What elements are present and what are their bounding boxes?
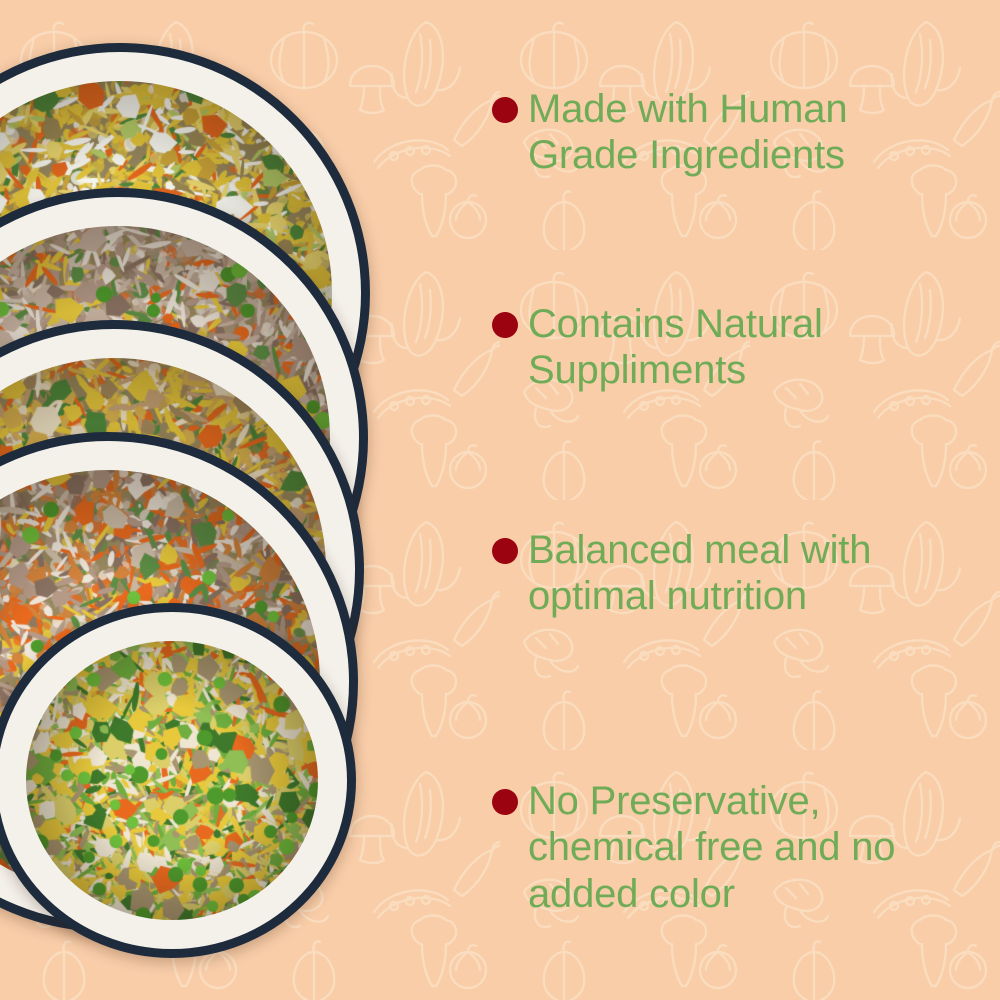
benefit-label: Balanced meal with optimal nutrition (528, 527, 871, 620)
bullet-icon (492, 97, 518, 123)
benefit-label: Made with Human Grade Ingredients (528, 86, 847, 179)
bowl-food-5 (26, 641, 318, 920)
meal-bowl-5 (0, 603, 356, 958)
bullet-icon (492, 789, 518, 815)
benefits-list: Made with Human Grade Ingredients Contai… (492, 0, 962, 1000)
benefit-item-human-grade: Made with Human Grade Ingredients (492, 86, 847, 179)
benefit-item-supplements: Contains Natural Suppliments (492, 301, 823, 394)
bullet-icon (492, 538, 518, 564)
benefit-item-balanced-meal: Balanced meal with optimal nutrition (492, 527, 871, 620)
benefit-item-no-preservative: No Preservative, chemical free and no ad… (492, 778, 895, 917)
benefit-label: Contains Natural Suppliments (528, 301, 823, 394)
benefit-label: No Preservative, chemical free and no ad… (528, 778, 895, 917)
bullet-icon (492, 312, 518, 338)
meal-bowl-stack (0, 0, 400, 1000)
